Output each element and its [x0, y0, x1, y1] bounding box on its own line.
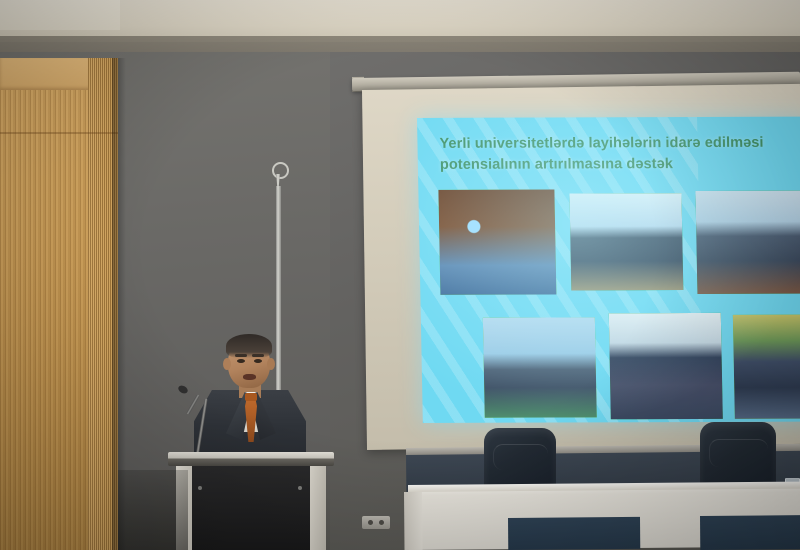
speaker-eyebrow-left: [235, 354, 247, 357]
speaker-ear-left: [223, 358, 231, 370]
speaker-eyebrow-right: [252, 354, 264, 357]
podium-screw: [198, 486, 202, 490]
ceiling-left-section: [0, 0, 120, 30]
podium-screw: [298, 486, 302, 490]
podium-body: [176, 465, 326, 550]
speaker-eye-left: [237, 359, 245, 363]
projected-slide: Yerli universitetlərdə layihələrin idarə…: [417, 117, 800, 423]
floor-shadow: [118, 470, 188, 550]
slide-photo: [733, 315, 800, 419]
speaker-hair: [226, 334, 272, 358]
slide-title: Yerli universitetlərdə layihələrin idarə…: [439, 133, 790, 175]
flag-finial-icon: [268, 162, 288, 188]
chair-seam: [493, 444, 549, 470]
slide-photo: [609, 313, 723, 419]
slide-photo: [695, 191, 800, 294]
conference-table-panel: [508, 517, 640, 550]
slide-photo: [483, 317, 597, 417]
slide-title-line-2: potensialının artırılmasına dəstək: [440, 153, 790, 175]
chair-seam: [709, 439, 768, 466]
speaker-mouth: [243, 374, 256, 380]
slide-photo: [438, 190, 556, 295]
wood-panel-seam: [0, 132, 118, 134]
outlet-socket: [379, 520, 384, 525]
executive-chair: [484, 428, 556, 490]
speaker-ear-right: [267, 358, 275, 370]
conference-hall-photo: Yerli universitetlərdə layihələrin idarə…: [0, 0, 800, 550]
slide-title-line-1: Yerli universitetlərdə layihələrin idarə…: [439, 133, 789, 155]
executive-chair: [700, 422, 776, 488]
slide-photo: [569, 193, 683, 290]
podium: [168, 452, 334, 550]
slide-photo-grid: [438, 189, 800, 410]
podium-top-surface: [168, 452, 334, 466]
conference-table-side: [404, 492, 423, 550]
conference-table-panel: [700, 515, 800, 550]
speaker-tie-knot: [245, 393, 257, 401]
speaker-eye-right: [254, 359, 262, 363]
podium-right-edge: [310, 465, 326, 550]
outlet-socket: [368, 520, 373, 525]
wall-power-outlet: [362, 516, 390, 529]
